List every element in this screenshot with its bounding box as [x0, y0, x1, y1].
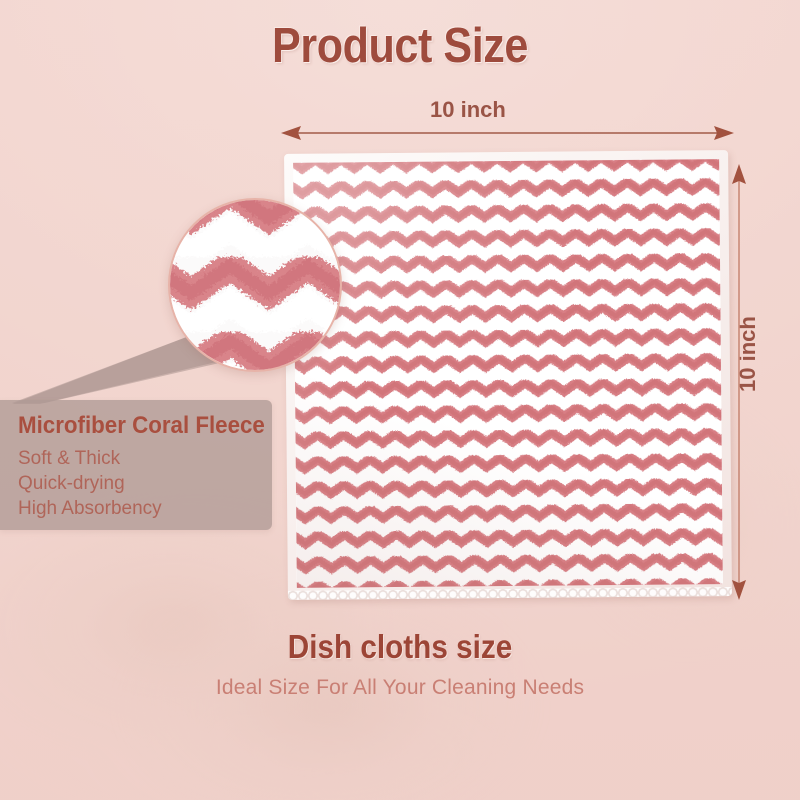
- callout-feature-list: Soft & Thick Quick-drying High Absorbenc…: [18, 446, 162, 521]
- fabric-zoom-content: [168, 198, 342, 372]
- chevron-pattern-zoomed: [168, 198, 342, 372]
- bottom-subheading: Ideal Size For All Your Cleaning Needs: [0, 676, 800, 700]
- callout-feature-item: High Absorbency: [18, 496, 162, 521]
- callout-feature-item: Soft & Thick: [18, 446, 162, 471]
- page-title: Product Size: [48, 18, 752, 74]
- width-dimension-label: 10 inch: [430, 97, 506, 123]
- infographic-canvas: Product Size 10 inch 10 inch: [0, 0, 800, 800]
- bottom-heading: Dish cloths size: [40, 628, 760, 666]
- callout-feature-item: Quick-drying: [18, 471, 162, 496]
- feature-callout-box: Microfiber Coral Fleece Soft & Thick Qui…: [0, 400, 272, 530]
- cloth-fabric-face: [293, 159, 723, 588]
- width-dimension-arrow: [275, 122, 740, 144]
- fabric-zoom-circle: [168, 198, 342, 372]
- cloth-hem-border: [284, 150, 732, 600]
- chevron-pattern: [293, 159, 723, 588]
- dish-cloth-product: [284, 150, 732, 600]
- callout-heading: Microfiber Coral Fleece: [18, 412, 265, 440]
